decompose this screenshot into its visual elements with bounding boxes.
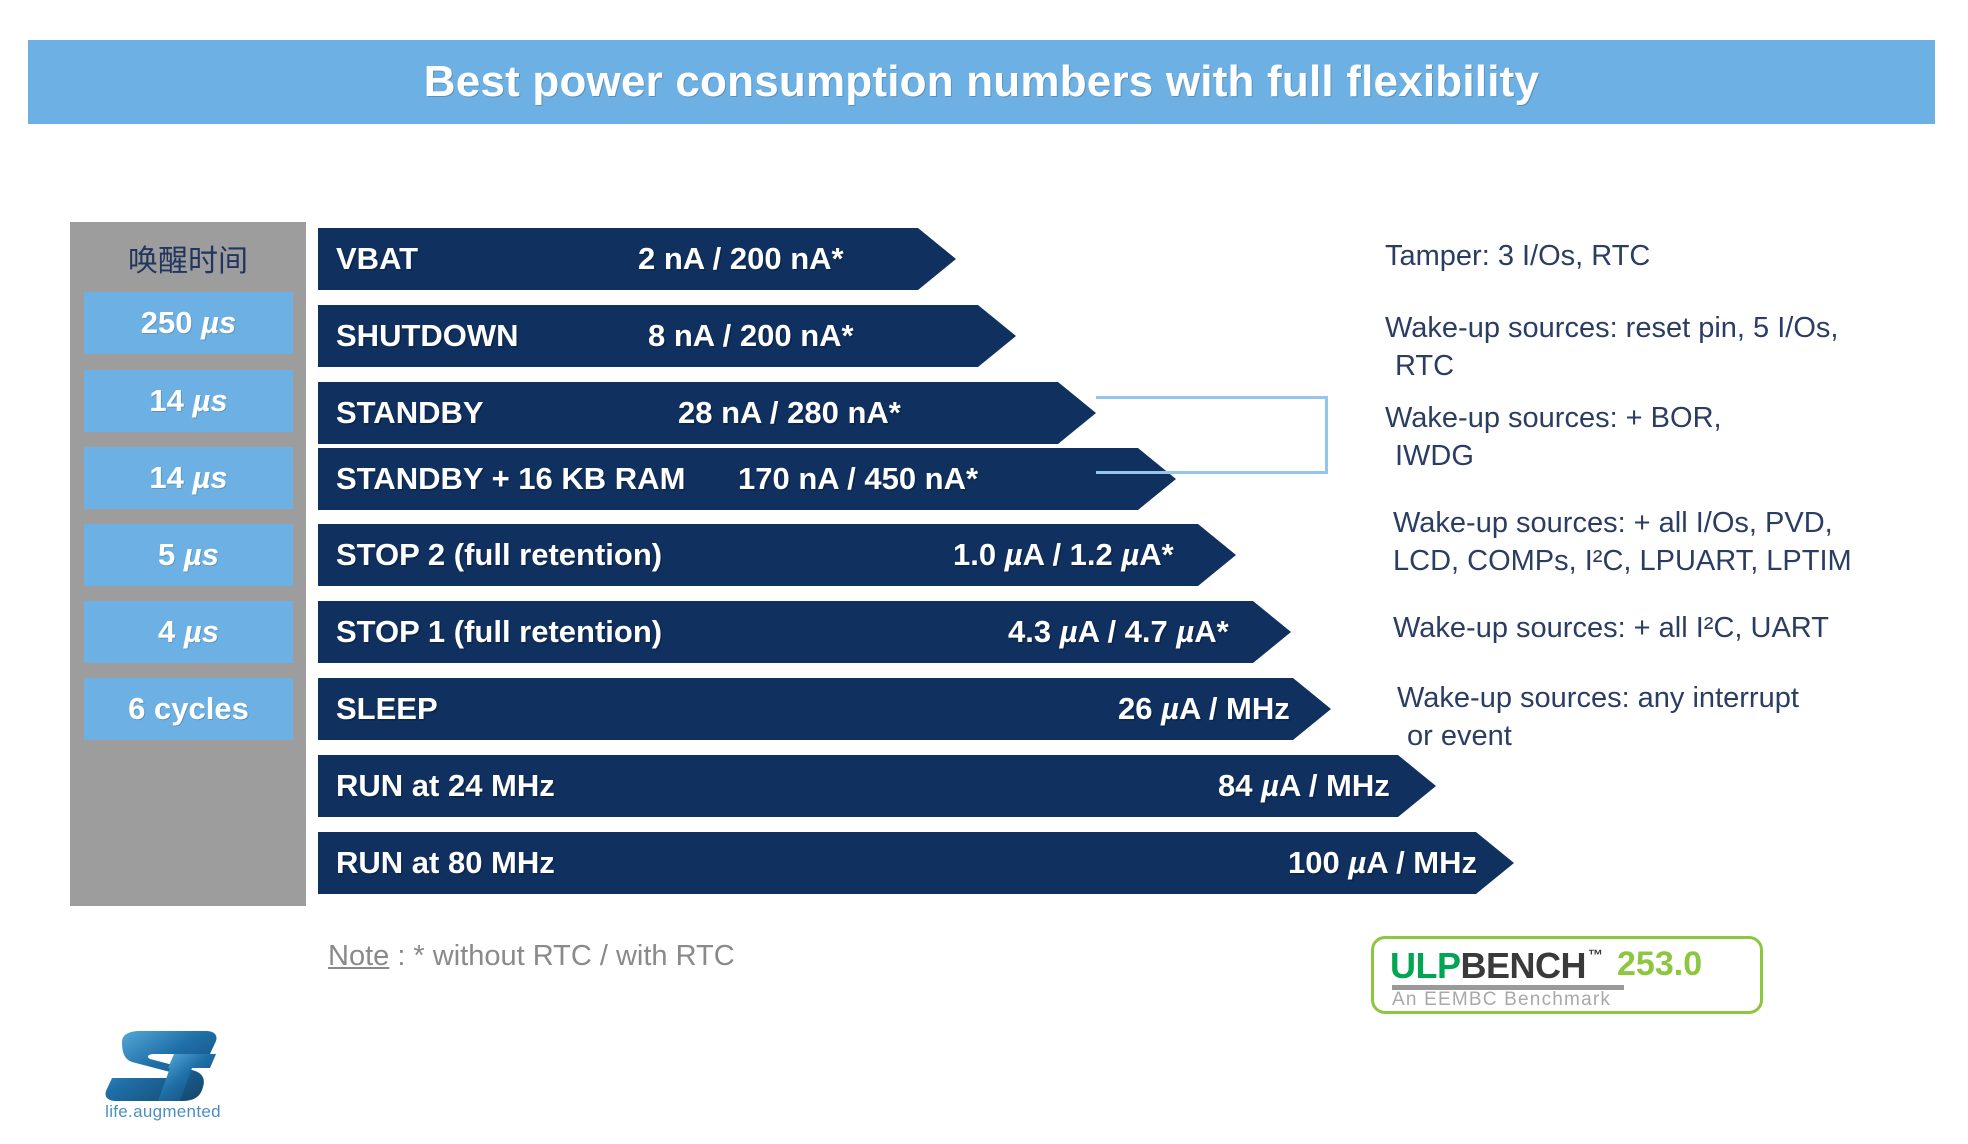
- ulpbench-ulp-text: ULP: [1390, 945, 1461, 987]
- wakeup-source-note: Wake-up sources: any interruptor event: [1397, 680, 1799, 755]
- standby-group-bracket: [1096, 396, 1328, 474]
- st-logo-mark: [88, 1028, 238, 1104]
- power-consumption-value: 28 nA / 280 nA*: [678, 395, 901, 431]
- wakeup-source-note: Wake-up sources: reset pin, 5 I/Os,RTC: [1385, 310, 1838, 385]
- wakeup-time-value: 4 µs: [158, 614, 219, 650]
- footnote-label: Note: [328, 940, 389, 972]
- note-line: Wake-up sources: reset pin, 5 I/Os,: [1385, 312, 1838, 344]
- note-line: IWDG: [1385, 438, 1722, 476]
- wakeup-time-chip: 14 µs: [84, 447, 293, 509]
- wakeup-time-chip: 5 µs: [84, 524, 293, 586]
- wakeup-time-chip: 4 µs: [84, 601, 293, 663]
- footnote: Note : * without RTC / with RTC: [328, 940, 735, 973]
- power-consumption-value: 8 nA / 200 nA*: [648, 318, 854, 354]
- wakeup-time-chip: 14 µs: [84, 370, 293, 432]
- power-mode-bar: STANDBY + 16 KB RAM170 nA / 450 nA*: [318, 448, 1176, 510]
- note-line: Tamper: 3 I/Os, RTC: [1385, 240, 1650, 272]
- power-mode-label: VBAT: [336, 241, 418, 277]
- ulpbench-badge: ULPBENCH™ 253.0 An EEMBC Benchmark: [1371, 936, 1763, 1014]
- power-consumption-value: 4.3 µA / 4.7 µA*: [1008, 614, 1229, 650]
- wakeup-time-value: 6 cycles: [128, 691, 249, 727]
- wakeup-column-header: 唤醒时间: [70, 230, 306, 286]
- power-mode-bar: STOP 2 (full retention)1.0 µA / 1.2 µA*: [318, 524, 1236, 586]
- wakeup-source-note: Wake-up sources: + all I²C, UART: [1393, 610, 1829, 648]
- power-mode-bar: SLEEP26 µA / MHz: [318, 678, 1331, 740]
- power-mode-label: STOP 2 (full retention): [336, 537, 662, 573]
- power-mode-label: STOP 1 (full retention): [336, 614, 662, 650]
- wakeup-time-chip: 6 cycles: [84, 678, 293, 740]
- note-line: LCD, COMPs, I²C, LPUART, LPTIM: [1393, 543, 1852, 581]
- page-title: Best power consumption numbers with full…: [28, 40, 1935, 124]
- power-mode-label: STANDBY: [336, 395, 484, 431]
- wakeup-source-note: Wake-up sources: + all I/Os, PVD,LCD, CO…: [1393, 505, 1852, 580]
- power-mode-bar: STANDBY28 nA / 280 nA*: [318, 382, 1096, 444]
- power-mode-bar: SHUTDOWN8 nA / 200 nA*: [318, 305, 1016, 367]
- wakeup-time-value: 14 µs: [149, 460, 227, 496]
- ulpbench-wordmark: ULPBENCH™ 253.0: [1390, 945, 1702, 987]
- power-mode-bar: RUN at 80 MHz100 µA / MHz: [318, 832, 1514, 894]
- note-line: or event: [1397, 718, 1799, 756]
- power-mode-label: RUN at 80 MHz: [336, 845, 555, 881]
- power-mode-label: STANDBY + 16 KB RAM: [336, 461, 685, 497]
- wakeup-time-value: 14 µs: [149, 383, 227, 419]
- power-mode-bar: VBAT2 nA / 200 nA*: [318, 228, 956, 290]
- st-logo: life.augmented: [88, 1028, 238, 1132]
- ulpbench-subtitle: An EEMBC Benchmark: [1392, 989, 1611, 1011]
- footnote-text: : * without RTC / with RTC: [389, 940, 734, 972]
- st-logo-tagline: life.augmented: [88, 1102, 238, 1122]
- power-mode-bar: RUN at 24 MHz84 µA / MHz: [318, 755, 1436, 817]
- note-line: Wake-up sources: + all I²C, UART: [1393, 612, 1829, 644]
- note-line: Wake-up sources: + all I/Os, PVD,: [1393, 507, 1833, 539]
- trademark-icon: ™: [1588, 947, 1603, 964]
- power-mode-bar: STOP 1 (full retention)4.3 µA / 4.7 µA*: [318, 601, 1291, 663]
- note-line: Wake-up sources: any interrupt: [1397, 682, 1799, 714]
- power-consumption-value: 1.0 µA / 1.2 µA*: [953, 537, 1174, 573]
- power-consumption-value: 100 µA / MHz: [1288, 845, 1477, 881]
- wakeup-time-value: 5 µs: [158, 537, 219, 573]
- power-consumption-value: 170 nA / 450 nA*: [738, 461, 978, 497]
- ulpbench-score: 253.0: [1617, 945, 1702, 984]
- power-mode-label: RUN at 24 MHz: [336, 768, 555, 804]
- power-mode-label: SHUTDOWN: [336, 318, 519, 354]
- title-band: Best power consumption numbers with full…: [28, 40, 1935, 124]
- wakeup-time-chip: 250 µs: [84, 292, 293, 354]
- note-line: Wake-up sources: + BOR,: [1385, 402, 1722, 434]
- wakeup-source-note: Wake-up sources: + BOR,IWDG: [1385, 400, 1722, 475]
- wakeup-source-note: Tamper: 3 I/Os, RTC: [1385, 238, 1650, 276]
- power-consumption-value: 2 nA / 200 nA*: [638, 241, 844, 277]
- power-consumption-value: 84 µA / MHz: [1218, 768, 1390, 804]
- ulpbench-bench-text: BENCH: [1461, 945, 1587, 987]
- power-mode-label: SLEEP: [336, 691, 438, 727]
- note-line: RTC: [1385, 348, 1838, 386]
- power-consumption-value: 26 µA / MHz: [1118, 691, 1290, 727]
- wakeup-time-value: 250 µs: [141, 305, 236, 341]
